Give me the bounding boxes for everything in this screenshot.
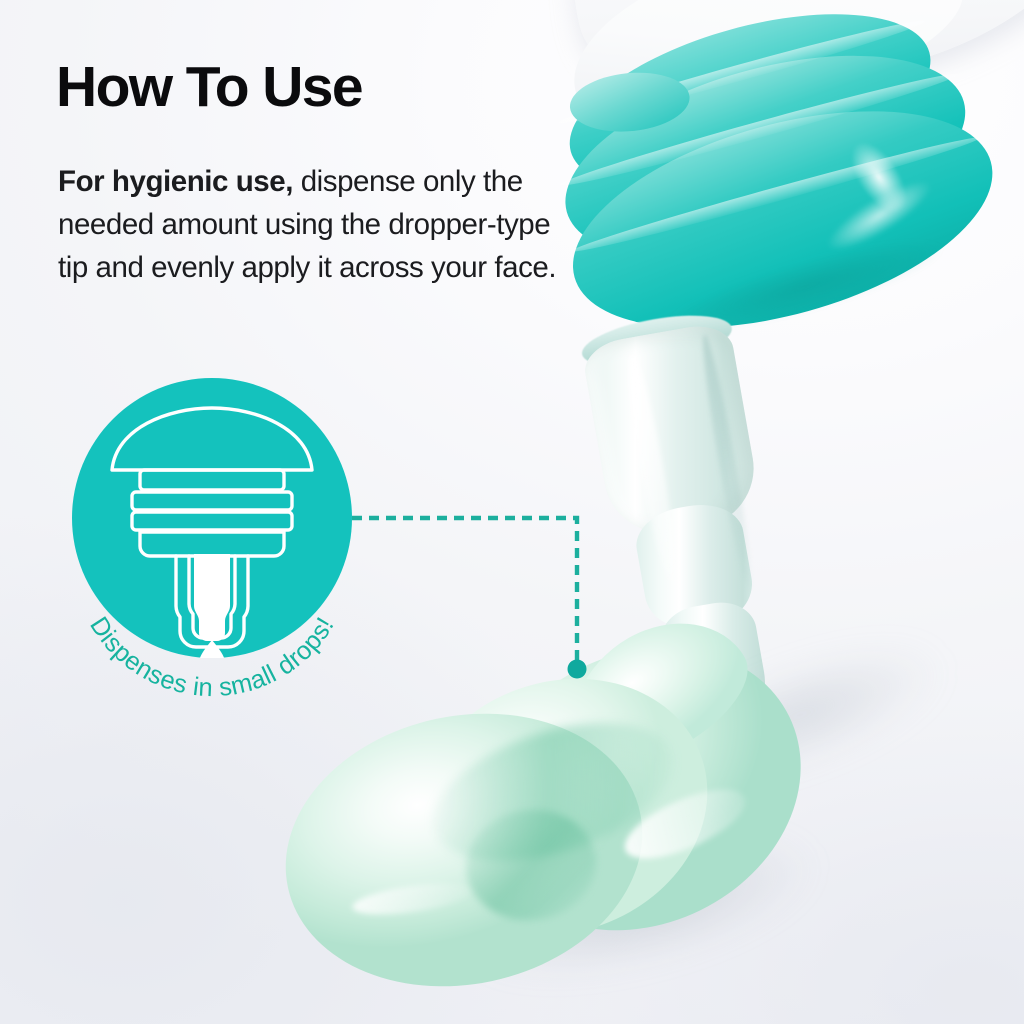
connector-endpoint-dot (568, 660, 587, 679)
page-title: How To Use (56, 58, 362, 117)
instruction-paragraph: For hygienic use, dispense only the need… (58, 160, 558, 289)
instruction-lead: For hygienic use, (58, 165, 293, 198)
badge-caption: Dispenses in small drops! (56, 370, 368, 682)
callout-connector (330, 495, 610, 705)
connector-dashed-path (352, 518, 577, 669)
dispenses-badge: Dispenses in small drops! (72, 378, 352, 658)
infographic-canvas: How To Use For hygienic use, dispense on… (0, 0, 1024, 1024)
